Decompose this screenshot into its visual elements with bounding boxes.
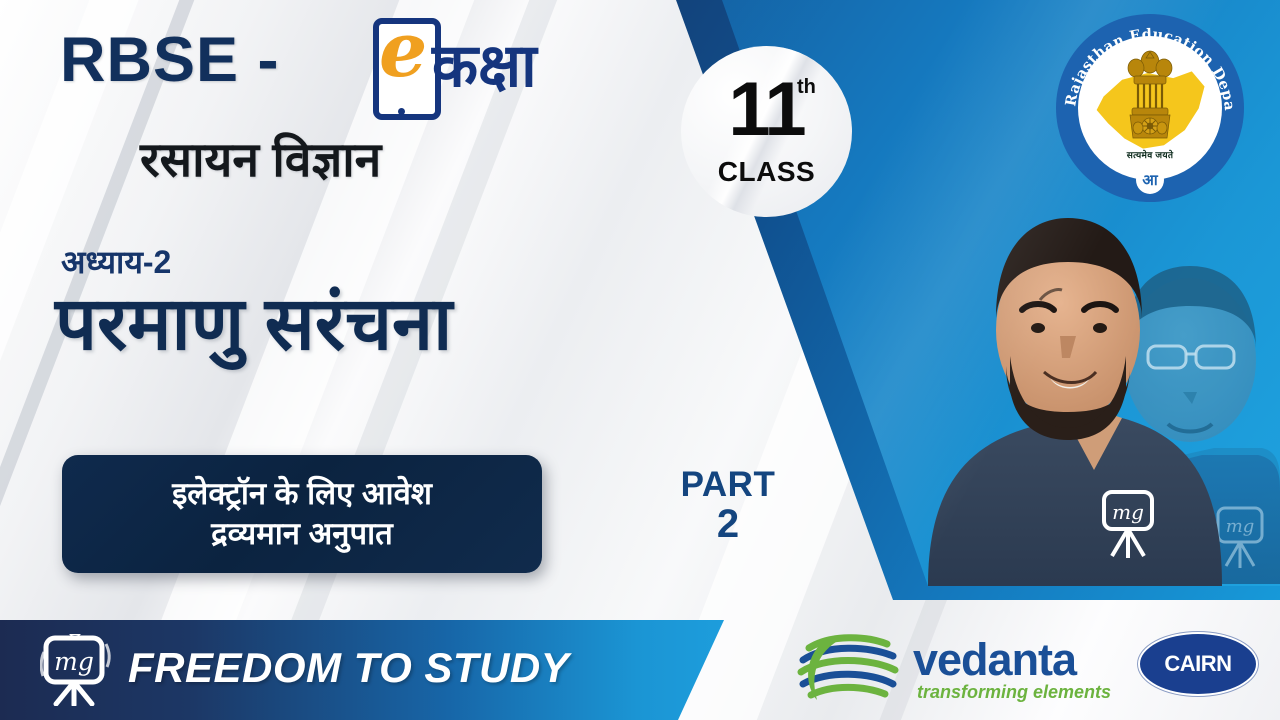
sponsor-cairn: CAIRN [1138,632,1258,696]
chapter-number: अध्याय-2 [61,240,171,283]
brand-name: RBSE - [60,24,280,96]
topic-line-1: इलेक्ट्रॉन के लिए आवेश [172,476,432,511]
logo-inner-disc: सत्यमेव जयते [1078,36,1222,180]
mg-easel-icon: mg [40,634,114,706]
topic-text: इलेक्ट्रॉन के लिए आवेश द्रव्यमान अनुपात [158,474,446,553]
brand-kaksha: कक्षा [432,22,537,104]
rajasthan-education-department-logo: Rajasthan Education Department [1056,14,1244,202]
footer-tagline: FREEDOM TO STUDY [128,644,569,692]
logo-bottom-mark: आ [1136,166,1164,194]
subject-title: रसायन विज्ञान [140,126,381,191]
vedanta-wordmark: vedanta [913,634,1076,686]
part-indicator: PART 2 [618,467,838,545]
class-ordinal: th [797,76,816,99]
ashoka-lion-capital-icon [1124,48,1176,152]
smartphone-icon: e [373,18,441,120]
svg-text:mg: mg [54,647,94,676]
chapter-title: परमाणु सरंचना [55,285,452,363]
topic-line-2: द्रव्यमान अनुपात [211,516,393,551]
class-word: CLASS [681,156,852,188]
logo-motto: सत्यमेव जयते [1078,148,1222,161]
e-letter: e [379,12,423,88]
class-number: 11 [681,72,852,148]
part-number: 2 [618,503,838,545]
cairn-wordmark: CAIRN [1164,651,1231,677]
vedanta-tagline: transforming elements [917,682,1111,703]
vedanta-globe-icon [795,628,903,706]
part-label: PART [618,467,838,503]
sponsor-vedanta: vedanta transforming elements [795,628,1125,710]
thumbnail-canvas: mg [0,0,1280,720]
topic-box: इलेक्ट्रॉन के लिए आवेश द्रव्यमान अनुपात [62,455,542,573]
class-badge: 11 th CLASS [681,46,852,217]
